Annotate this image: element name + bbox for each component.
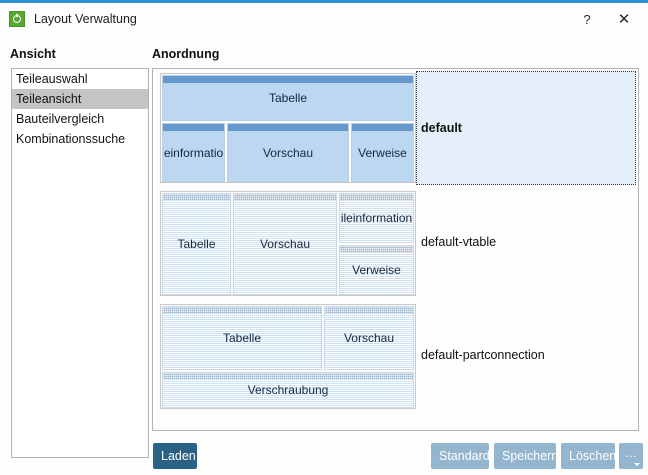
layout-pane-label: Tabelle <box>163 91 413 105</box>
layout-pane: Tabelle <box>162 75 414 121</box>
layout-pane-titlebar <box>163 76 413 83</box>
more-options-button[interactable]: ... <box>619 443 643 469</box>
layout-pane-titlebar <box>340 194 413 201</box>
layout-pane-titlebar <box>340 246 413 253</box>
layout-option-row[interactable]: TabelleeinformatioVorschauVerweisedefaul… <box>153 69 638 187</box>
chevron-down-icon <box>634 463 640 466</box>
list-item[interactable]: Kombinationssuche <box>12 129 148 149</box>
view-list[interactable]: TeileauswahlTeileansichtBauteilvergleich… <box>11 68 149 458</box>
layout-pane-label: Verweise <box>340 263 413 277</box>
layout-pane-titlebar <box>163 307 321 314</box>
standard-button[interactable]: Standard <box>431 443 489 469</box>
title-bar: Layout Verwaltung ? ✕ <box>0 3 648 35</box>
anordnung-heading: Anordnung <box>152 47 219 61</box>
layout-pane-titlebar <box>163 194 230 201</box>
layout-pane-label: Vorschau <box>228 146 348 160</box>
help-button[interactable]: ? <box>570 4 604 35</box>
window-title: Layout Verwaltung <box>34 12 137 26</box>
layout-pane-label: ileinformation <box>340 211 413 225</box>
layout-pane-label: Vorschau <box>325 331 413 345</box>
layout-pane-titlebar <box>234 194 336 201</box>
layout-preview[interactable]: TabelleVorschauileinformationVerweise <box>160 191 416 296</box>
layout-name-label: default <box>421 121 462 135</box>
layout-pane-titlebar <box>163 124 224 131</box>
layout-pane: Verschraubung <box>162 372 414 408</box>
ansicht-heading: Ansicht <box>10 47 56 61</box>
layout-pane-titlebar <box>228 124 348 131</box>
delete-button-label: Löschen <box>569 449 616 463</box>
list-item[interactable]: Bauteilvergleich <box>12 109 148 129</box>
layout-pane-label: Tabelle <box>163 237 230 251</box>
layout-preview[interactable]: TabelleVorschauVerschraubung <box>160 304 416 409</box>
layout-pane-label: einformatio <box>163 146 224 160</box>
layout-option-row[interactable]: TabelleVorschauVerschraubungdefault-part… <box>153 300 638 413</box>
layout-pane-titlebar <box>163 373 413 380</box>
load-button[interactable]: Laden <box>153 443 197 469</box>
layout-pane-titlebar <box>352 124 413 131</box>
save-button[interactable]: Speichern <box>494 443 556 469</box>
layout-option-row[interactable]: TabelleVorschauileinformationVerweisedef… <box>153 187 638 300</box>
list-item[interactable]: Teileauswahl <box>12 69 148 89</box>
layout-pane: einformatio <box>162 123 225 182</box>
layout-pane: Vorschau <box>324 306 414 370</box>
layout-preview[interactable]: TabelleeinformatioVorschauVerweise <box>160 73 416 183</box>
delete-button[interactable]: Löschen <box>561 443 615 469</box>
more-options-label: ... <box>625 446 637 460</box>
app-gear-icon <box>9 11 25 27</box>
layout-pane: Verweise <box>351 123 414 182</box>
close-icon[interactable]: ✕ <box>604 4 644 35</box>
layout-pane: Vorschau <box>227 123 349 182</box>
layout-pane: Tabelle <box>162 306 322 370</box>
layout-pane: ileinformation <box>339 193 414 243</box>
layout-pane: Tabelle <box>162 193 231 295</box>
layout-pane: Vorschau <box>233 193 337 295</box>
layout-verwaltung-dialog: Layout Verwaltung ? ✕ Ansicht Anordnung … <box>0 0 648 475</box>
layout-pane-label: Verweise <box>352 146 413 160</box>
layout-name-label: default-vtable <box>421 235 496 249</box>
layout-pane-label: Verschraubung <box>163 383 413 397</box>
layout-name-label: default-partconnection <box>421 348 545 362</box>
layout-preview-panel[interactable]: TabelleeinformatioVorschauVerweisedefaul… <box>152 68 639 431</box>
layout-pane-titlebar <box>325 307 413 314</box>
layout-pane: Verweise <box>339 245 414 295</box>
layout-pane-label: Vorschau <box>234 237 336 251</box>
list-item[interactable]: Teileansicht <box>12 89 148 109</box>
layout-pane-label: Tabelle <box>163 331 321 345</box>
